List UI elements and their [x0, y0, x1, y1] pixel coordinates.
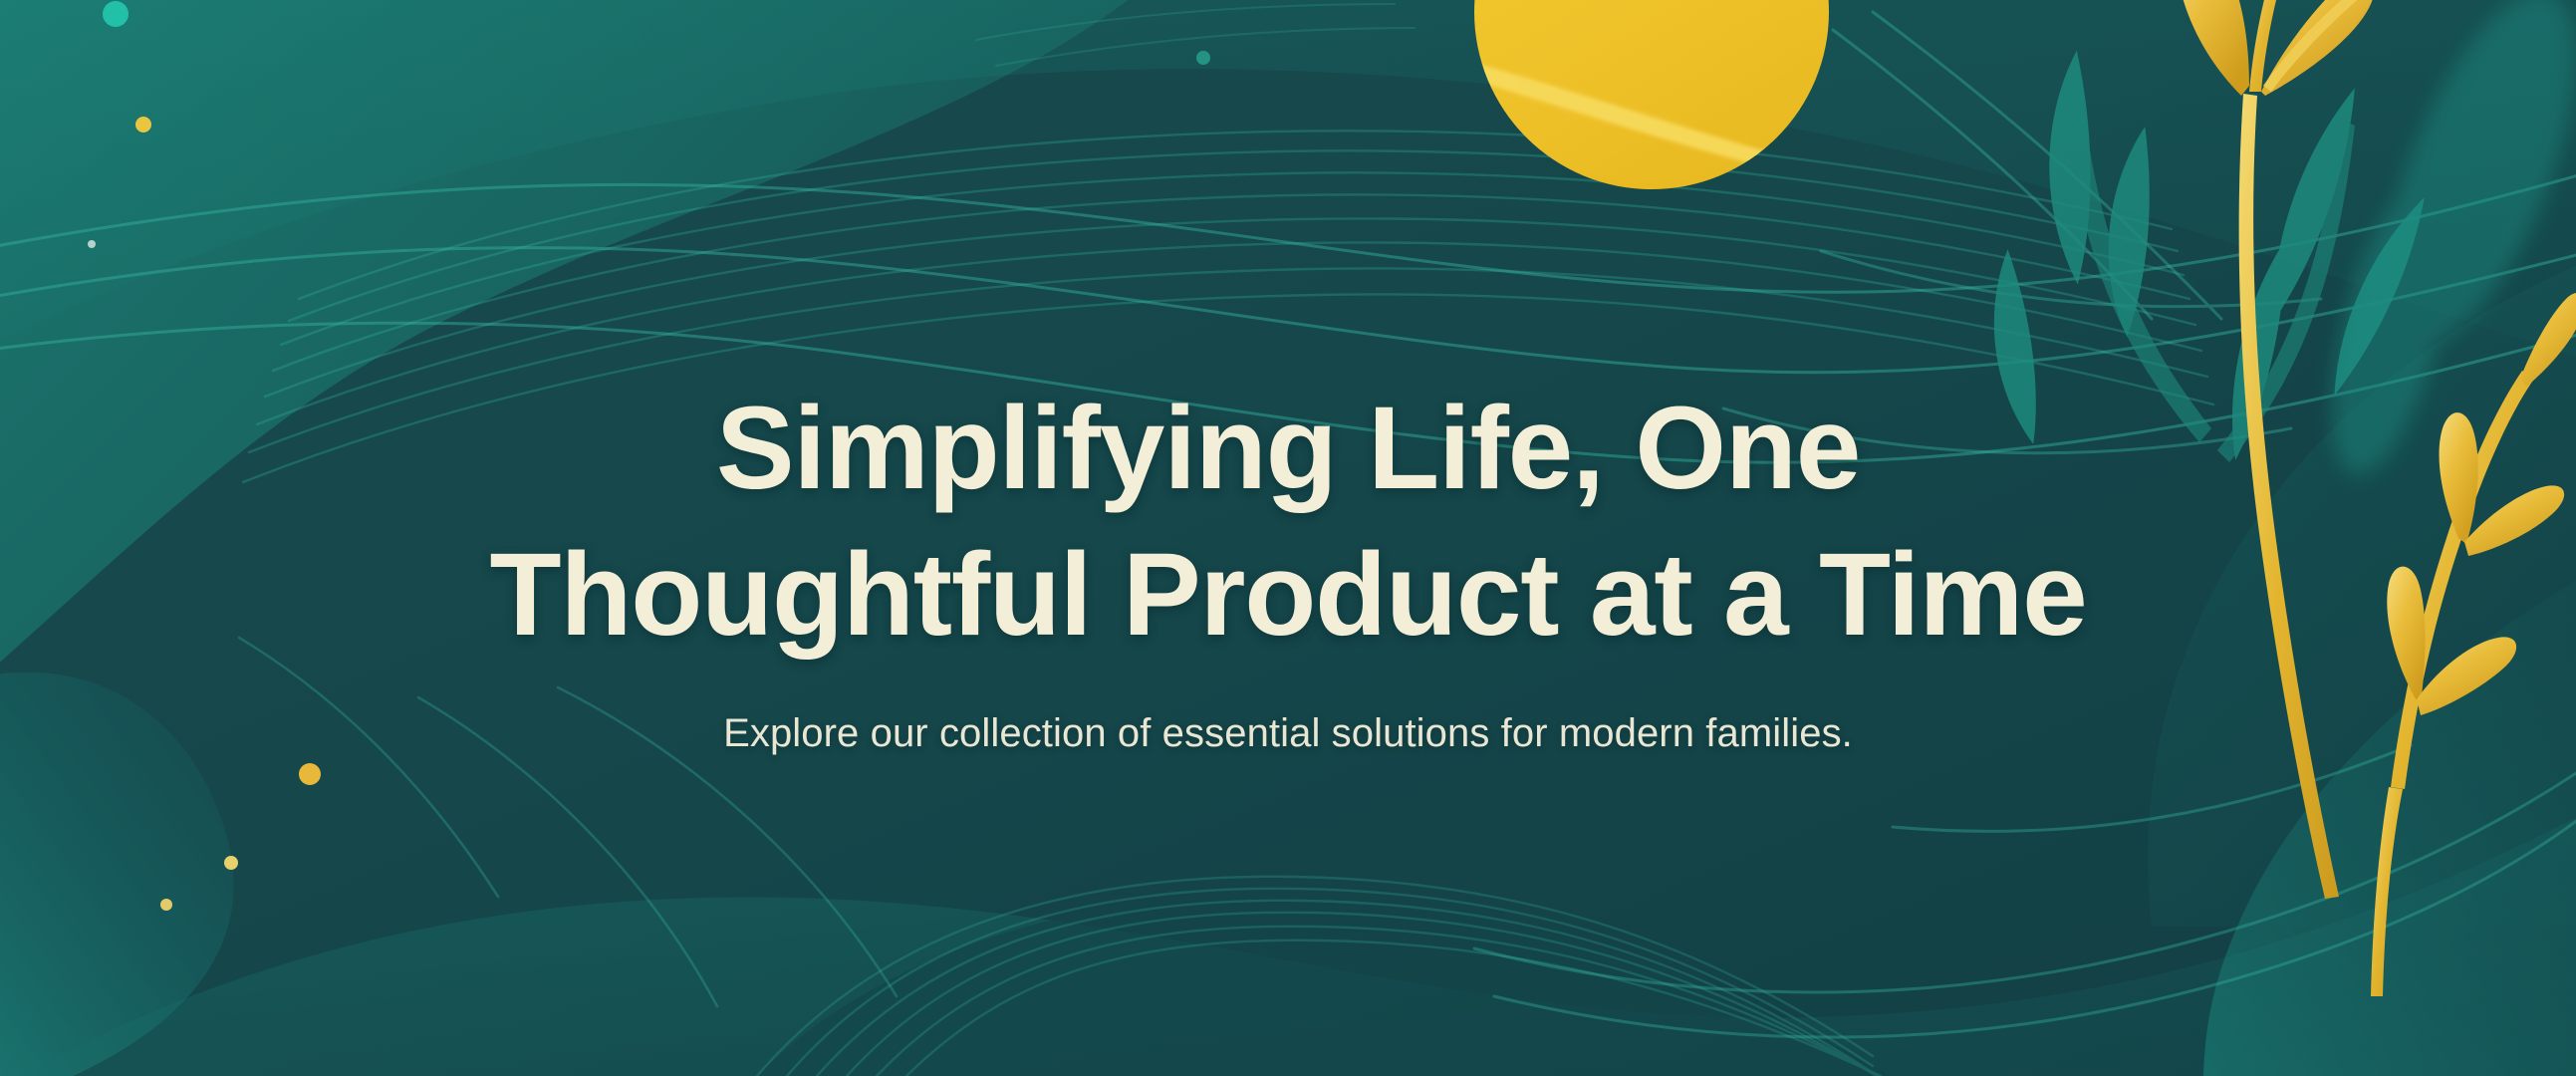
dot-gold-lower-left-2	[160, 899, 172, 911]
hero-banner: Simplifying Life, One Thoughtful Product…	[0, 0, 2576, 1076]
dot-gold-lower-left	[224, 856, 238, 870]
decorative-background	[0, 0, 2576, 1076]
dot-white-left	[88, 240, 96, 248]
dot-gold-subtitle-left	[299, 763, 321, 785]
dot-gold-top-left	[135, 117, 151, 133]
dot-teal-top-left	[103, 1, 129, 27]
dot-teal-mid-left	[1196, 51, 1210, 65]
